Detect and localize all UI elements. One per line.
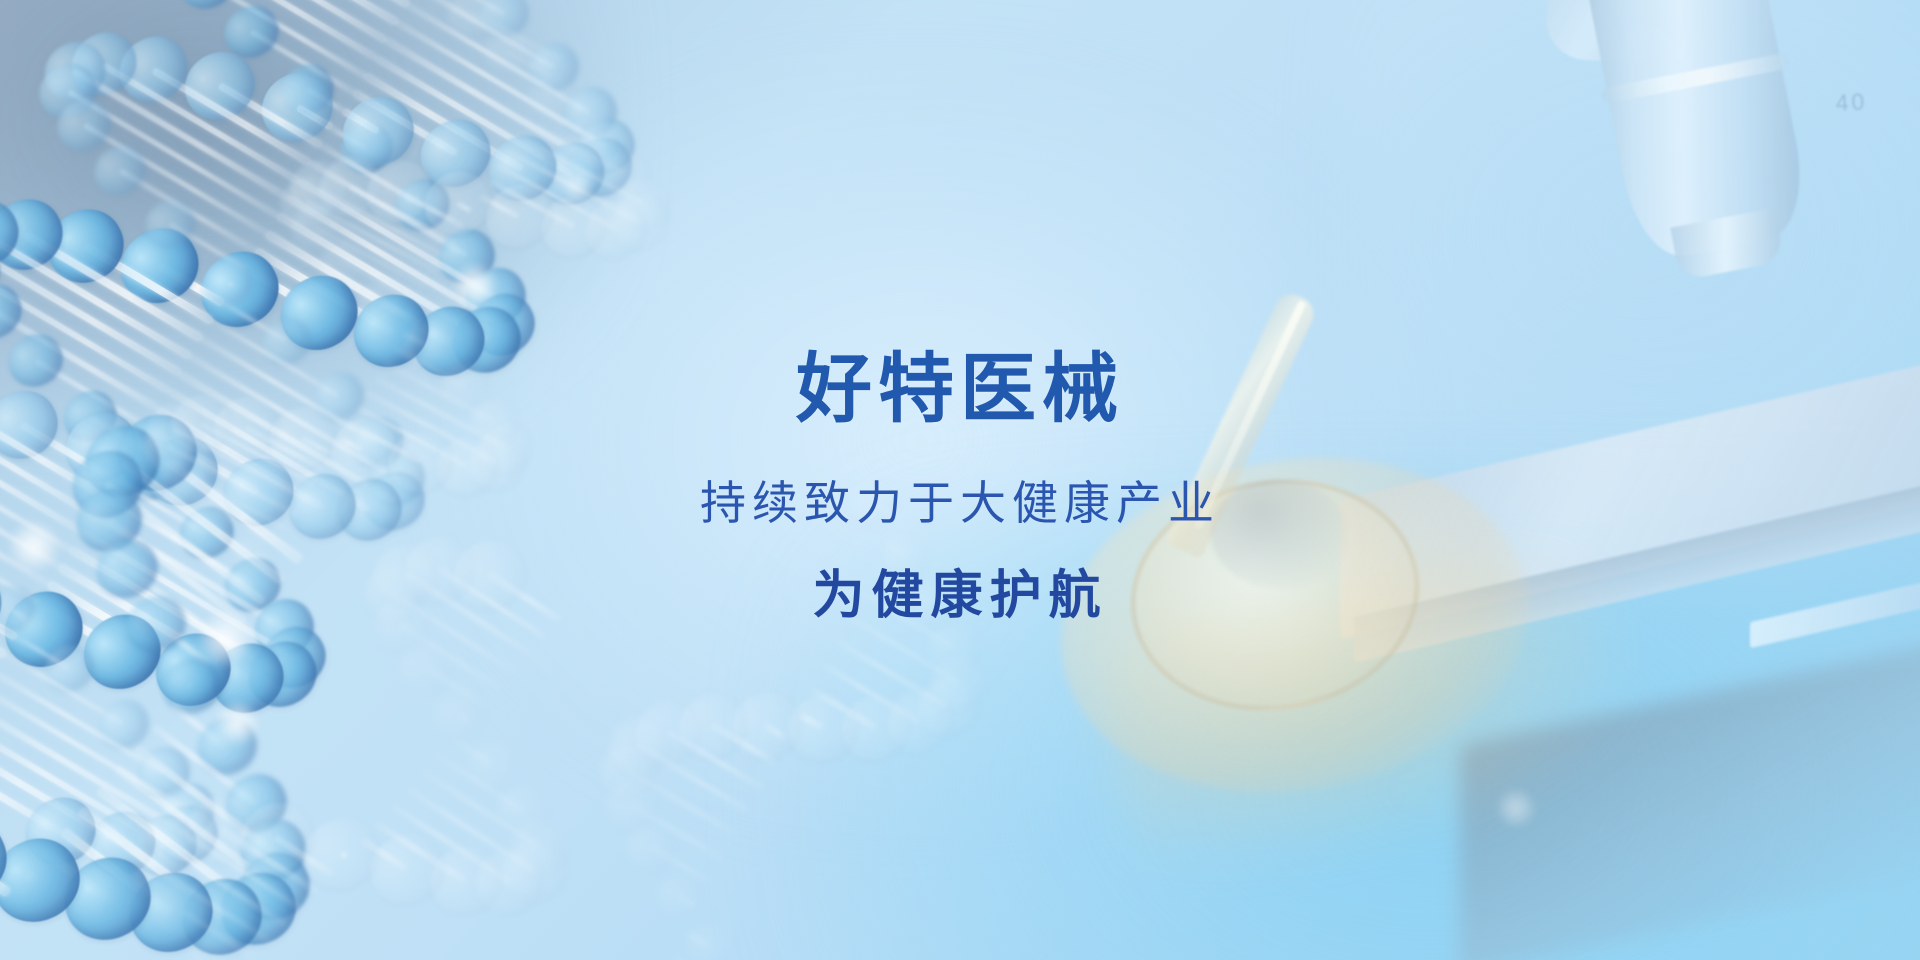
banner-tagline: 为健康护航: [0, 570, 1920, 622]
bokeh-light: [560, 168, 594, 202]
bokeh-light: [1496, 788, 1536, 828]
bokeh-light: [214, 700, 260, 746]
banner-subtitle: 持续致力于大健康产业: [0, 480, 1920, 526]
dna-nucleotide-bead: [679, 916, 741, 960]
dna-nucleotide-bead: [425, 683, 491, 747]
banner-copy: 好特医械 持续致力于大健康产业 为健康护航: [0, 352, 1920, 622]
page-title: 好特医械: [0, 352, 1920, 428]
bokeh-light: [452, 262, 496, 306]
dna-nucleotide-bead: [86, 137, 154, 203]
hero-banner: 40 好特医械 持续致力于大健康产业 为健康护航: [0, 0, 1920, 960]
